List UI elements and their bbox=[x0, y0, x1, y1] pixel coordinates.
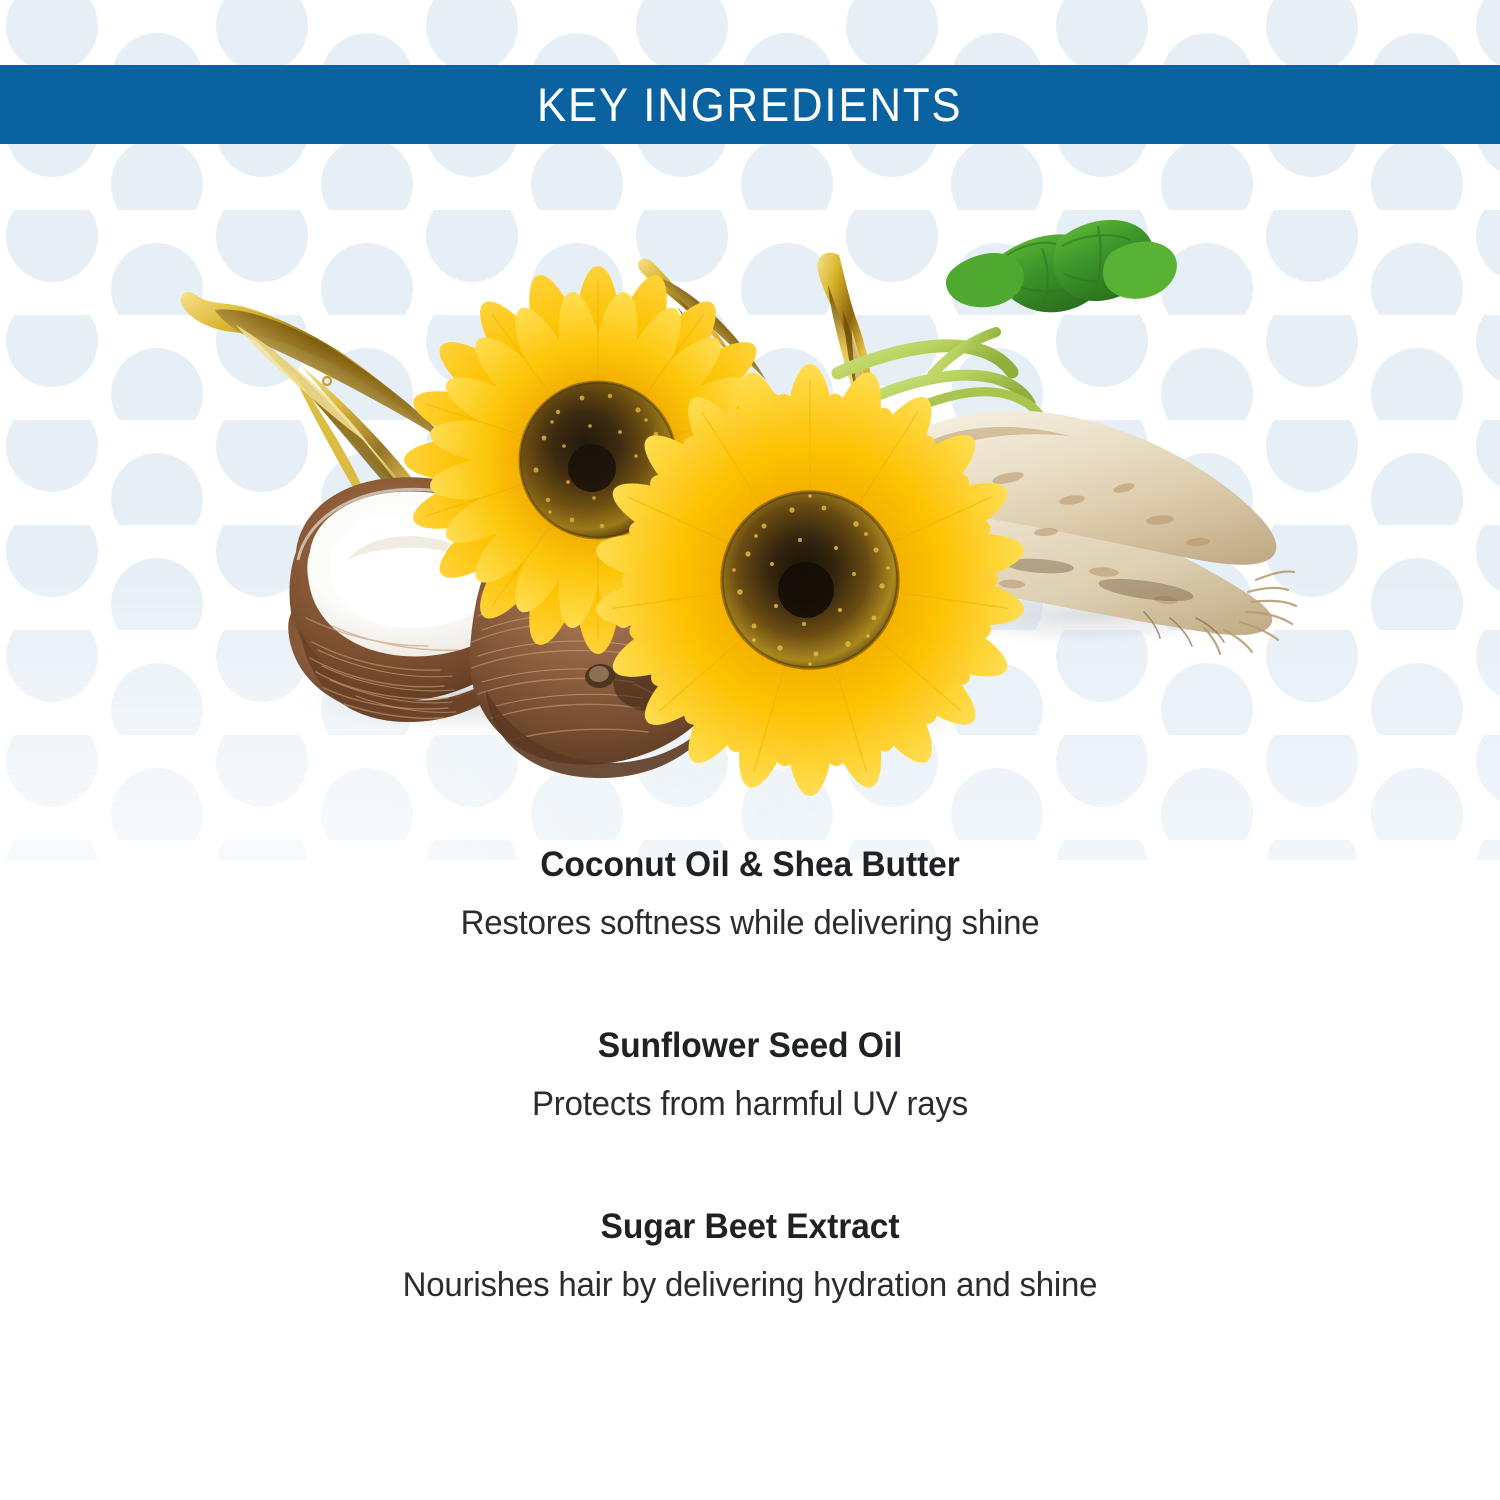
key-ingredients-banner: KEY INGREDIENTS bbox=[0, 65, 1500, 144]
ingredient-name: Sunflower Seed Oil bbox=[30, 1026, 1470, 1066]
ingredient-description: Restores softness while delivering shine bbox=[23, 903, 1478, 944]
key-ingredients-panel: KEY INGREDIENTS bbox=[0, 0, 1500, 1500]
ingredient-item-coconut-oil-shea-butter: Coconut Oil & Shea Butter Restores softn… bbox=[0, 845, 1500, 944]
banner-title: KEY INGREDIENTS bbox=[537, 81, 962, 128]
ingredient-name: Coconut Oil & Shea Butter bbox=[30, 845, 1470, 885]
ingredients-hero-image bbox=[0, 160, 1500, 800]
ingredient-description: Nourishes hair by delivering hydration a… bbox=[23, 1265, 1478, 1306]
ingredient-description: Protects from harmful UV rays bbox=[23, 1084, 1478, 1125]
ingredient-item-sunflower-seed-oil: Sunflower Seed Oil Protects from harmful… bbox=[0, 1026, 1500, 1125]
ingredient-name: Sugar Beet Extract bbox=[30, 1207, 1470, 1247]
ingredient-list: Coconut Oil & Shea Butter Restores softn… bbox=[0, 845, 1500, 1306]
ingredient-item-sugar-beet-extract: Sugar Beet Extract Nourishes hair by del… bbox=[0, 1207, 1500, 1306]
